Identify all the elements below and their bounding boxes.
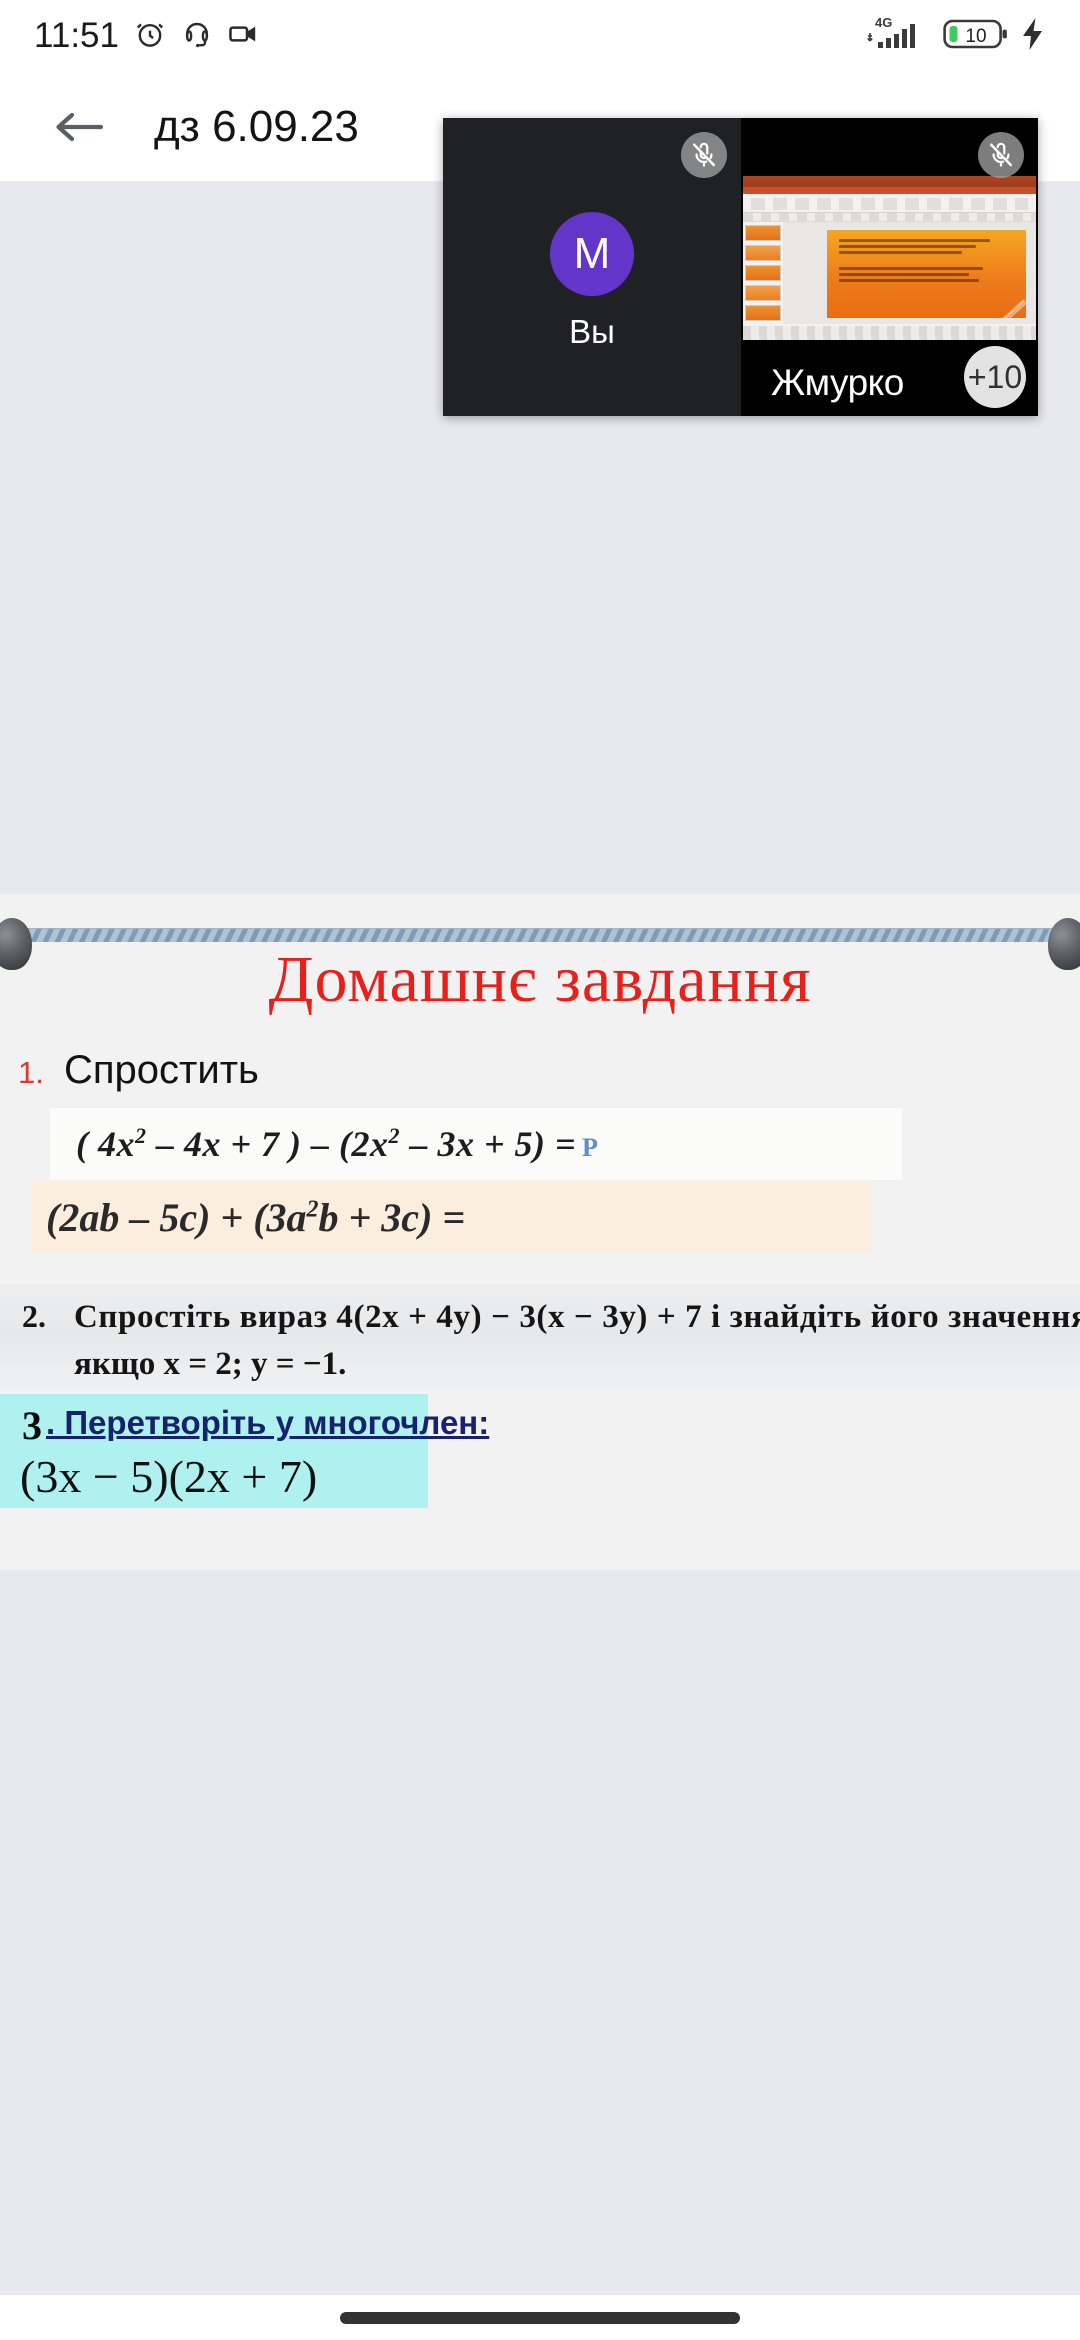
slide-thumb (745, 245, 781, 261)
avatar-letter: M (574, 232, 611, 276)
video-camera-icon (227, 18, 259, 55)
task-1-prompt: Спростить (64, 1048, 259, 1093)
svg-text:4G: 4G (875, 15, 892, 30)
page-title: дз 6.09.23 (154, 102, 359, 152)
task-1-equation-1-box: ( 4x2 – 4x + 7 ) – (2x2 – 3x + 5) =P (50, 1108, 902, 1180)
equation-marker-p: P (582, 1133, 598, 1164)
video-tile-screenshare[interactable]: Жмурко +10 (741, 118, 1038, 416)
task-2-line-1: 2. Спростіть вираз 4(2x + 4y) − 3(x − 3y… (22, 1298, 1080, 1336)
headset-icon (181, 18, 213, 55)
ppt-slide-stage (783, 222, 1036, 324)
task-3-heading: . Перетворіть у многочлен: (46, 1404, 489, 1442)
slide-thumb (745, 265, 781, 281)
mic-off-icon (681, 132, 727, 178)
shared-screen-content (743, 176, 1036, 340)
participants-overflow-badge[interactable]: +10 (964, 346, 1026, 408)
back-arrow-icon (51, 106, 107, 148)
video-tile-self[interactable]: M Вы (443, 118, 741, 416)
video-tile-name-self: Вы (443, 313, 741, 351)
homework-sheet: Домашнє завдання 1. Спростить ( 4x2 – 4x… (0, 894, 1080, 1570)
notebook-spiral-strip (0, 928, 1080, 942)
ppt-ribbon (743, 187, 1036, 213)
task-1-equation-2-box: (2ab – 5c) + (3a2b + 3c) = (32, 1182, 870, 1252)
back-button[interactable] (48, 96, 110, 158)
ppt-toolbar (743, 213, 1036, 222)
task-2-number: 2. (22, 1298, 74, 1335)
avatar: M (550, 212, 634, 296)
task-1-equation-2: (2ab – 5c) + (3a2b + 3c) = (46, 1194, 465, 1241)
signal-bars-icon: 4G (864, 12, 932, 61)
task-2-text-line-1: Спростіть вираз 4(2x + 4y) − 3(x − 3y) +… (74, 1299, 1080, 1336)
slide-thumb (745, 305, 781, 321)
ppt-title-bar (743, 176, 1036, 187)
slide-decor (957, 299, 1026, 318)
ppt-slide-thumbnails (743, 222, 783, 324)
battery-level-text: 10 (965, 26, 986, 47)
homework-title: Домашнє завдання (0, 942, 1080, 1018)
task-1-number: 1. (18, 1055, 64, 1091)
task-3-equation: (3x − 5)(2x + 7) (20, 1450, 317, 1503)
task-1: 1. Спростить (18, 1048, 259, 1093)
mic-off-icon (978, 132, 1024, 178)
slide-thumb (745, 225, 781, 241)
status-time: 11:51 (34, 16, 119, 56)
status-bar-right: 4G 10 (864, 12, 1046, 61)
navigation-bar (0, 2295, 1080, 2340)
status-bar-left: 11:51 (34, 16, 259, 56)
battery-icon: 10 (943, 16, 1009, 57)
task-3-number: 3 (22, 1402, 42, 1449)
charging-bolt-icon (1020, 17, 1046, 56)
slide-text-block (827, 257, 1026, 282)
ppt-status-bar (743, 326, 1036, 340)
ppt-current-slide (827, 230, 1026, 318)
slide-text-block (827, 230, 1026, 254)
video-call-overlay[interactable]: M Вы (443, 118, 1038, 416)
task-1-equation-1: ( 4x2 – 4x + 7 ) – (2x2 – 3x + 5) =P (76, 1123, 598, 1165)
ppt-workspace (743, 222, 1036, 324)
task-3: 3 . Перетворіть у многочлен: (3x − 5)(2x… (0, 1394, 428, 1508)
slide-thumb (745, 285, 781, 301)
home-gesture-pill[interactable] (340, 2312, 740, 2324)
task-2-text-line-2: якщо x = 2; y = −1. (74, 1346, 346, 1383)
task-2: 2. Спростіть вираз 4(2x + 4y) − 3(x − 3y… (0, 1284, 1080, 1398)
alarm-icon (133, 17, 167, 56)
status-bar: 11:51 (0, 0, 1080, 72)
phone-screen: 11:51 (0, 0, 1080, 2340)
video-tile-name-share: Жмурко (771, 362, 904, 404)
